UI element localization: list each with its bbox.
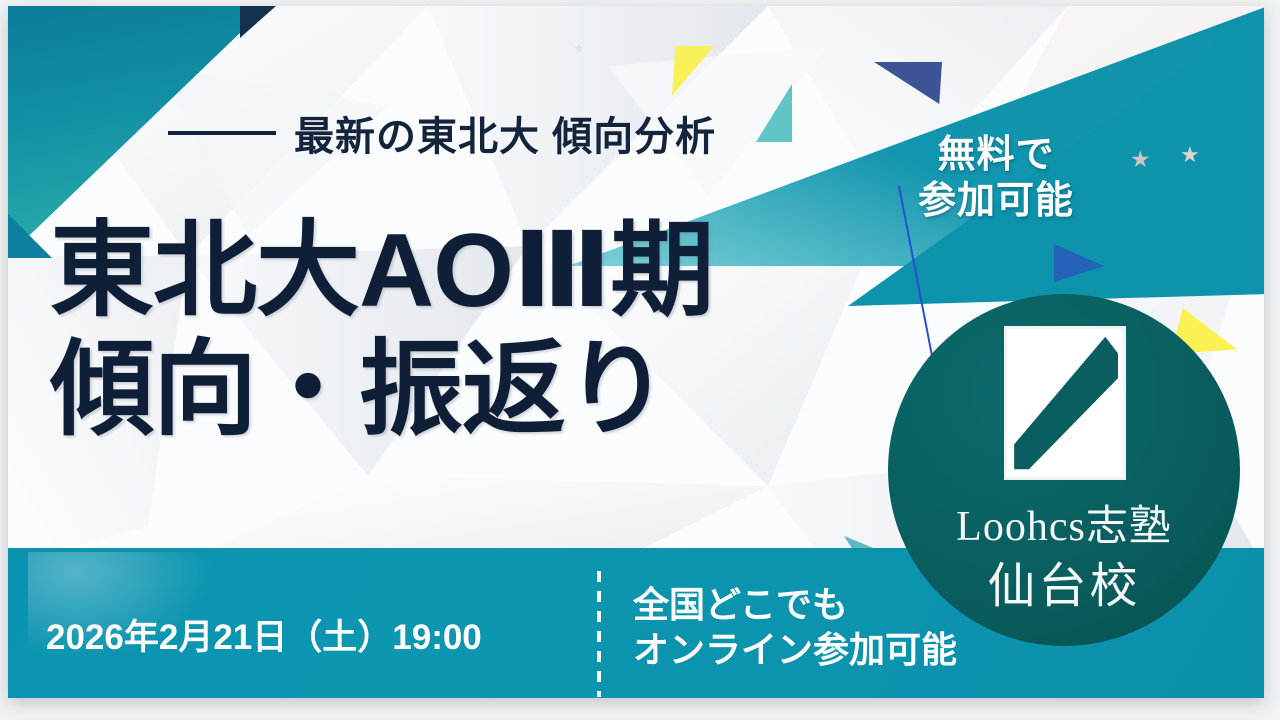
subtitle-text: 最新の東北大 傾向分析 <box>294 104 716 162</box>
banner-card: ★ ★ ★ 最新の東北大 傾向分析 東北大AOⅢ期 傾向・振返り 無料で 参加可… <box>8 6 1264 698</box>
logo-branch-name: 仙台校 <box>888 546 1240 616</box>
star-icon: ★ <box>573 42 585 55</box>
promotional-banner: ★ ★ ★ 最新の東北大 傾向分析 東北大AOⅢ期 傾向・振返り 無料で 参加可… <box>0 0 1280 720</box>
free-badge-line-1: 無料で <box>918 132 1074 178</box>
free-participation-badge: 無料で 参加可能 <box>918 132 1074 225</box>
star-icon: ★ <box>1180 144 1200 166</box>
dashed-divider-icon <box>597 571 601 697</box>
title-line-1: 東北大AOⅢ期 <box>50 212 713 331</box>
rule-line-icon <box>168 131 276 135</box>
logo-brand-name: Loohcs志塾 <box>888 492 1240 553</box>
online-line-2: オンライン参加可能 <box>633 627 957 672</box>
star-icon: ★ <box>1130 148 1151 171</box>
free-badge-line-2: 参加可能 <box>918 178 1074 224</box>
title-line-2: 傾向・振返り <box>50 331 713 450</box>
subtitle-row: 最新の東北大 傾向分析 <box>168 104 716 162</box>
page-title: 東北大AOⅢ期 傾向・振返り <box>50 212 713 449</box>
event-date-text: 2026年2月21日（土）19:00 <box>46 609 482 660</box>
